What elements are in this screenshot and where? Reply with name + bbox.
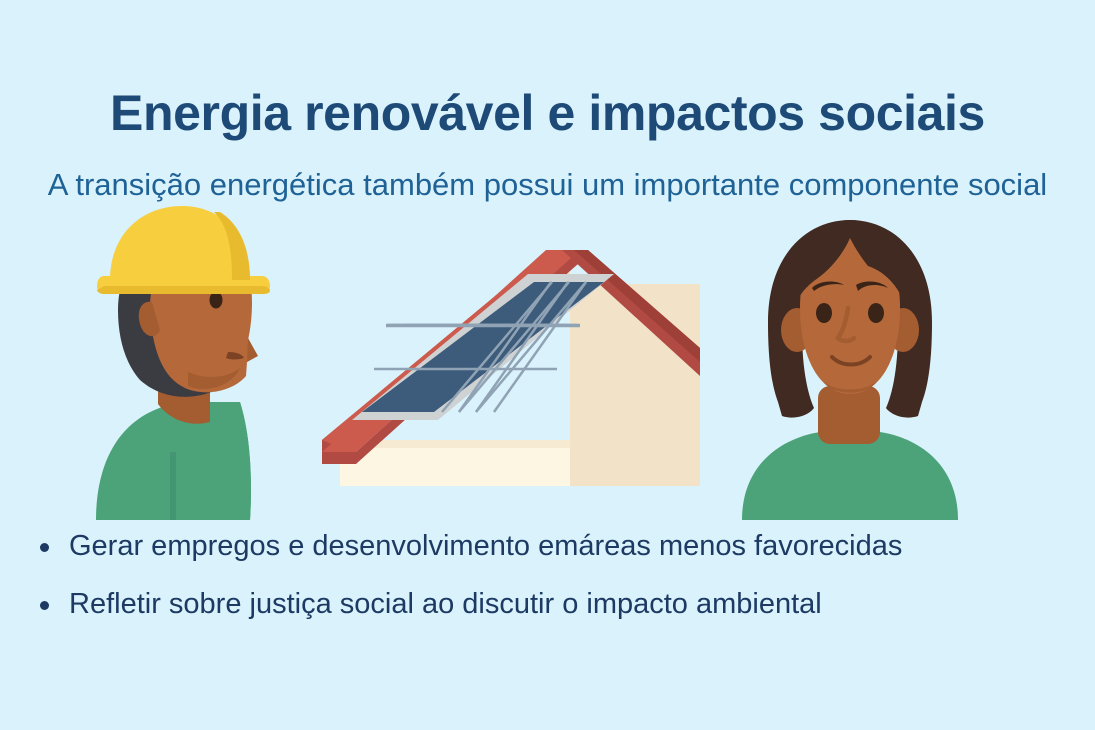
- page-title: Energia renovável e impactos sociais: [0, 86, 1095, 141]
- bullet-dot-icon: [40, 601, 49, 610]
- slide-root: Energia renovável e impactos sociais A t…: [0, 0, 1095, 730]
- list-item: Refletir sobre justiça social ao discuti…: [40, 586, 1050, 622]
- bullet-text: Refletir sobre justiça social ao discuti…: [69, 586, 822, 622]
- worker-group: [96, 206, 270, 520]
- bullet-dot-icon: [40, 543, 49, 552]
- list-item: Gerar empregos e desenvolvimento emáreas…: [40, 528, 1050, 564]
- house-group: [322, 250, 700, 486]
- woman-group: [742, 220, 958, 520]
- bullet-list: Gerar empregos e desenvolvimento emáreas…: [40, 528, 1050, 645]
- illustration: [0, 190, 1095, 520]
- bullet-text: Gerar empregos e desenvolvimento emáreas…: [69, 528, 902, 564]
